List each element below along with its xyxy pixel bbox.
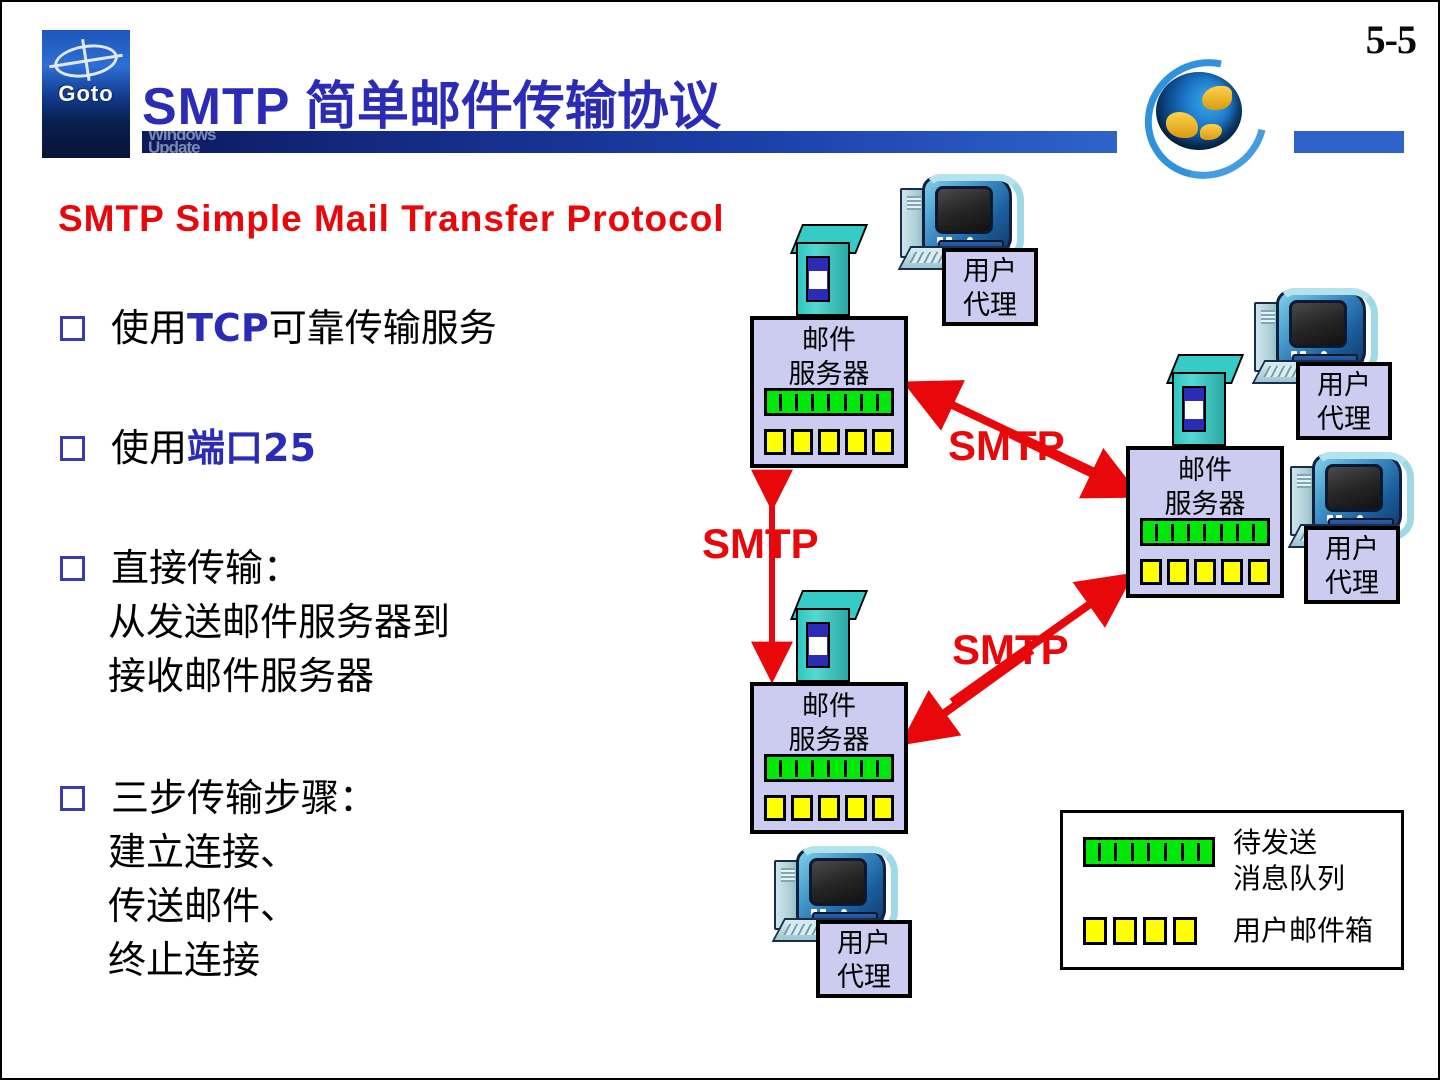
user-agent-top: 用户 代理 xyxy=(900,176,1040,326)
user-agent-right-upper: 用户 代理 xyxy=(1254,290,1394,440)
slide-canvas: Goto 5-5 SMTP 简单邮件传输协议 Windows Update SM… xyxy=(0,0,1440,1080)
mail-server-label: 邮件 服务器 xyxy=(1130,454,1280,522)
server-tower-icon xyxy=(790,590,856,682)
message-queue-bar xyxy=(1140,518,1270,546)
mail-server-box: 邮件 服务器 xyxy=(750,316,908,468)
smtp-topology-diagram: SMTP SMTP SMTP 邮件 服务器 xyxy=(2,2,1438,1078)
legend-box: 待发送 消息队列 用户邮件箱 xyxy=(1060,810,1404,970)
user-mailbox-row xyxy=(764,429,902,455)
legend-mailbox-text: 用户邮件箱 xyxy=(1233,913,1373,949)
legend-queue-text: 待发送 消息队列 xyxy=(1233,825,1345,898)
user-agent-label: 用户 代理 xyxy=(1304,526,1400,604)
mail-server-bottom-left: 邮件 服务器 xyxy=(750,590,920,870)
user-mailbox-row xyxy=(1140,559,1278,585)
legend-mailbox-swatch xyxy=(1083,917,1197,945)
legend-queue-swatch xyxy=(1083,837,1215,867)
user-agent-right-lower: 用户 代理 xyxy=(1290,454,1430,604)
user-agent-label: 用户 代理 xyxy=(816,920,912,998)
mail-server-label: 邮件 服务器 xyxy=(754,324,904,392)
user-agent-label: 用户 代理 xyxy=(1296,362,1392,440)
server-tower-icon xyxy=(790,224,856,316)
mail-server-top-left: 邮件 服务器 xyxy=(750,224,920,504)
smtp-label-upper: SMTP xyxy=(948,422,1065,470)
server-tower-icon xyxy=(1166,354,1232,446)
mail-server-label: 邮件 服务器 xyxy=(754,690,904,758)
user-mailbox-row xyxy=(764,795,902,821)
mail-server-box: 邮件 服务器 xyxy=(1126,446,1284,598)
mail-server-box: 邮件 服务器 xyxy=(750,682,908,834)
user-agent-label: 用户 代理 xyxy=(942,248,1038,326)
message-queue-bar xyxy=(764,388,894,416)
message-queue-bar xyxy=(764,754,894,782)
smtp-label-vertical: SMTP xyxy=(702,520,819,568)
smtp-label-lower: SMTP xyxy=(952,626,1069,674)
user-agent-bottom: 用户 代理 xyxy=(774,848,914,998)
